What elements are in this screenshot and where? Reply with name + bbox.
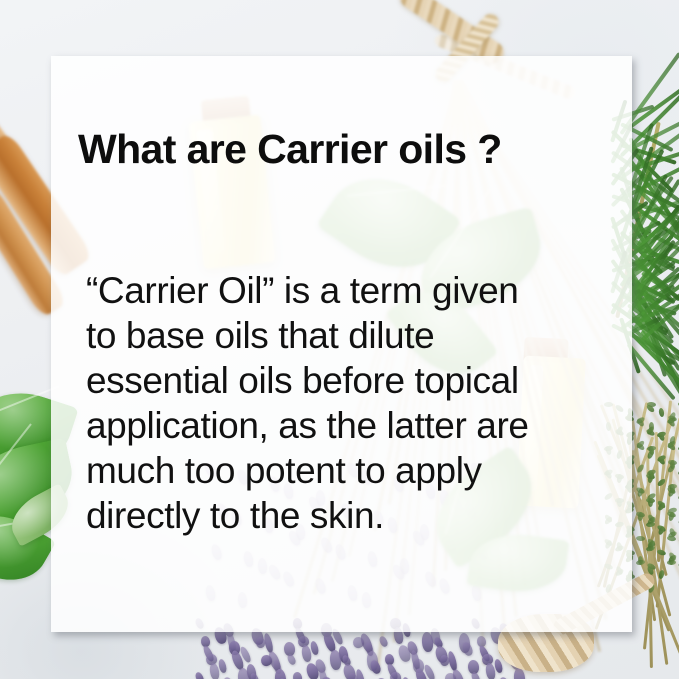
page-title: What are Carrier oils ? [78,126,502,173]
thyme-leaf [648,498,653,507]
thyme-leaf [636,536,645,542]
body-paragraph: “Carrier Oil” is a term given to base oi… [86,268,616,538]
infographic-canvas: What are Carrier oils ? “Carrier Oil” is… [0,0,679,679]
